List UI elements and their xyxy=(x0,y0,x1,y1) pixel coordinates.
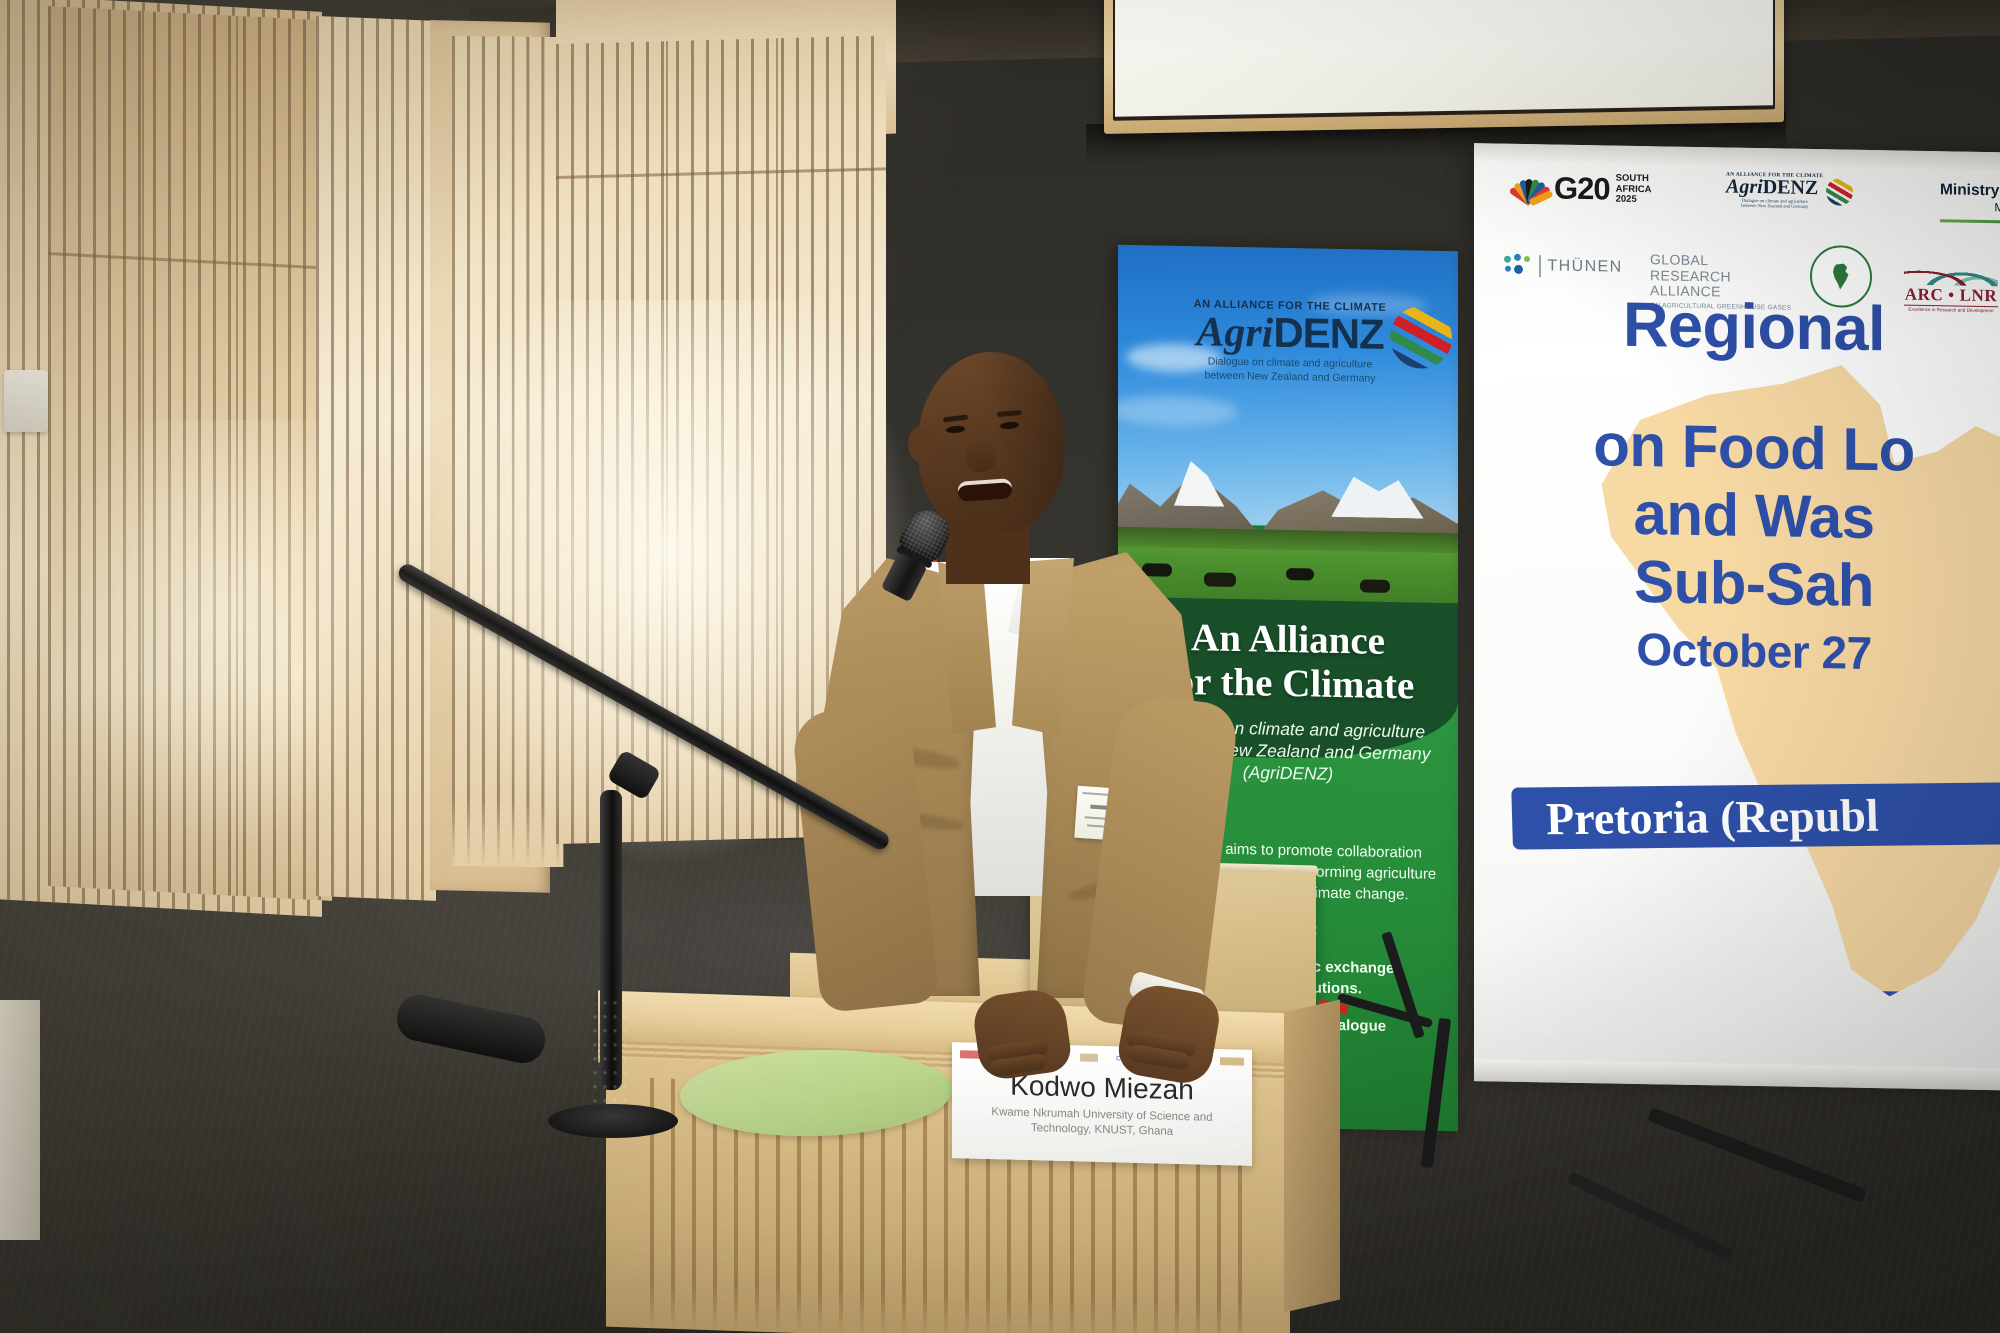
slat-texture xyxy=(452,36,563,867)
agridenz-small-sub2: between New Zealand and Germany xyxy=(1726,203,1823,210)
g20-logo: G20 SOUTH AFRICA 2025 xyxy=(1506,170,1652,209)
mpi-line1: Ministry for Prim xyxy=(1940,181,2000,200)
wall-sensor-fixture xyxy=(4,370,48,432)
logo-word-agri: Agri xyxy=(1196,309,1273,356)
placard-affiliation: Kwame Nkrumah University of Science and … xyxy=(968,1104,1236,1141)
thunen-dots-icon xyxy=(1504,254,1532,278)
cow xyxy=(1286,568,1314,581)
backdrop-city-bar: Pretoria (Republ xyxy=(1511,782,2000,850)
thunen-divider xyxy=(1539,255,1541,277)
mic-stand-grip[interactable] xyxy=(592,1000,628,1120)
g20-subtext: SOUTH AFRICA 2025 xyxy=(1616,174,1652,206)
backdrop-line-2: and Was xyxy=(1474,479,2000,553)
agridenz-orb-icon-small xyxy=(1826,178,1853,205)
backdrop-line-3: Sub-Sah xyxy=(1474,547,2000,621)
slat-texture xyxy=(316,16,436,901)
mpi-line2: Man xyxy=(1940,198,2000,217)
mpi-rule xyxy=(1940,219,2000,224)
backdrop-city-text: Pretoria (Republ xyxy=(1511,788,1879,845)
agridenz-small-agri: Agri xyxy=(1726,176,1763,199)
podium-right-side xyxy=(1284,1000,1340,1313)
backdrop-line-1: on Food Lo xyxy=(1474,411,2000,485)
agridenz-orb-icon xyxy=(1390,306,1452,369)
mouth-speaking xyxy=(957,478,1012,502)
speaker-person xyxy=(800,352,1220,1052)
acoustic-panel-bank-mid xyxy=(316,16,436,901)
screen-surface xyxy=(1115,0,1773,117)
slat-texture xyxy=(48,6,332,901)
agridenz-small-denz: DENZ xyxy=(1763,176,1819,199)
projection-screen xyxy=(1104,0,1784,134)
nose xyxy=(966,438,996,472)
acoustic-panel-bank-left-2 xyxy=(48,6,332,901)
person-left-hand xyxy=(971,986,1074,1082)
backdrop-date: October 27 xyxy=(1474,621,2000,681)
agridenz-small-word: AgriDENZ xyxy=(1726,176,1818,200)
event-backdrop-banner: G20 SOUTH AFRICA 2025 AN ALLIANCE FOR TH… xyxy=(1474,143,2000,1091)
g20-wordmark: G20 xyxy=(1554,171,1610,208)
g20-flower-icon xyxy=(1506,171,1548,206)
panel-seam xyxy=(236,16,238,896)
person-torso xyxy=(800,548,1220,1058)
wooden-door-open[interactable] xyxy=(452,36,563,867)
logo-word-denz: DENZ xyxy=(1273,309,1383,358)
sponsor-mark xyxy=(1220,1057,1244,1066)
panel-seam xyxy=(776,38,778,838)
panel-seam xyxy=(142,11,144,891)
thunen-logo: THÜNEN xyxy=(1504,254,1623,280)
backdrop-title: Regional xyxy=(1474,289,2000,365)
thunen-wordmark: THÜNEN xyxy=(1548,257,1623,276)
cow xyxy=(1360,579,1390,593)
conference-photo-scene: AN ALLIANCE FOR THE CLIMATE AgriDENZ Dia… xyxy=(0,0,2000,1333)
agridenz-logo-small: AN ALLIANCE FOR THE CLIMATE AgriDENZ Dia… xyxy=(1726,172,1853,211)
mpi-text: Ministry for Prim Man xyxy=(1940,181,2000,224)
africa-map-icon xyxy=(1830,263,1852,289)
arc-swoosh-icon xyxy=(1904,255,1998,287)
mic-stand-base xyxy=(548,1104,678,1138)
mpi-logo: Ministry for Prim Man xyxy=(1940,181,2000,224)
g20-sub-year: 2025 xyxy=(1616,195,1652,206)
person-ear xyxy=(908,426,932,462)
wall-base-trim xyxy=(0,1000,40,1240)
